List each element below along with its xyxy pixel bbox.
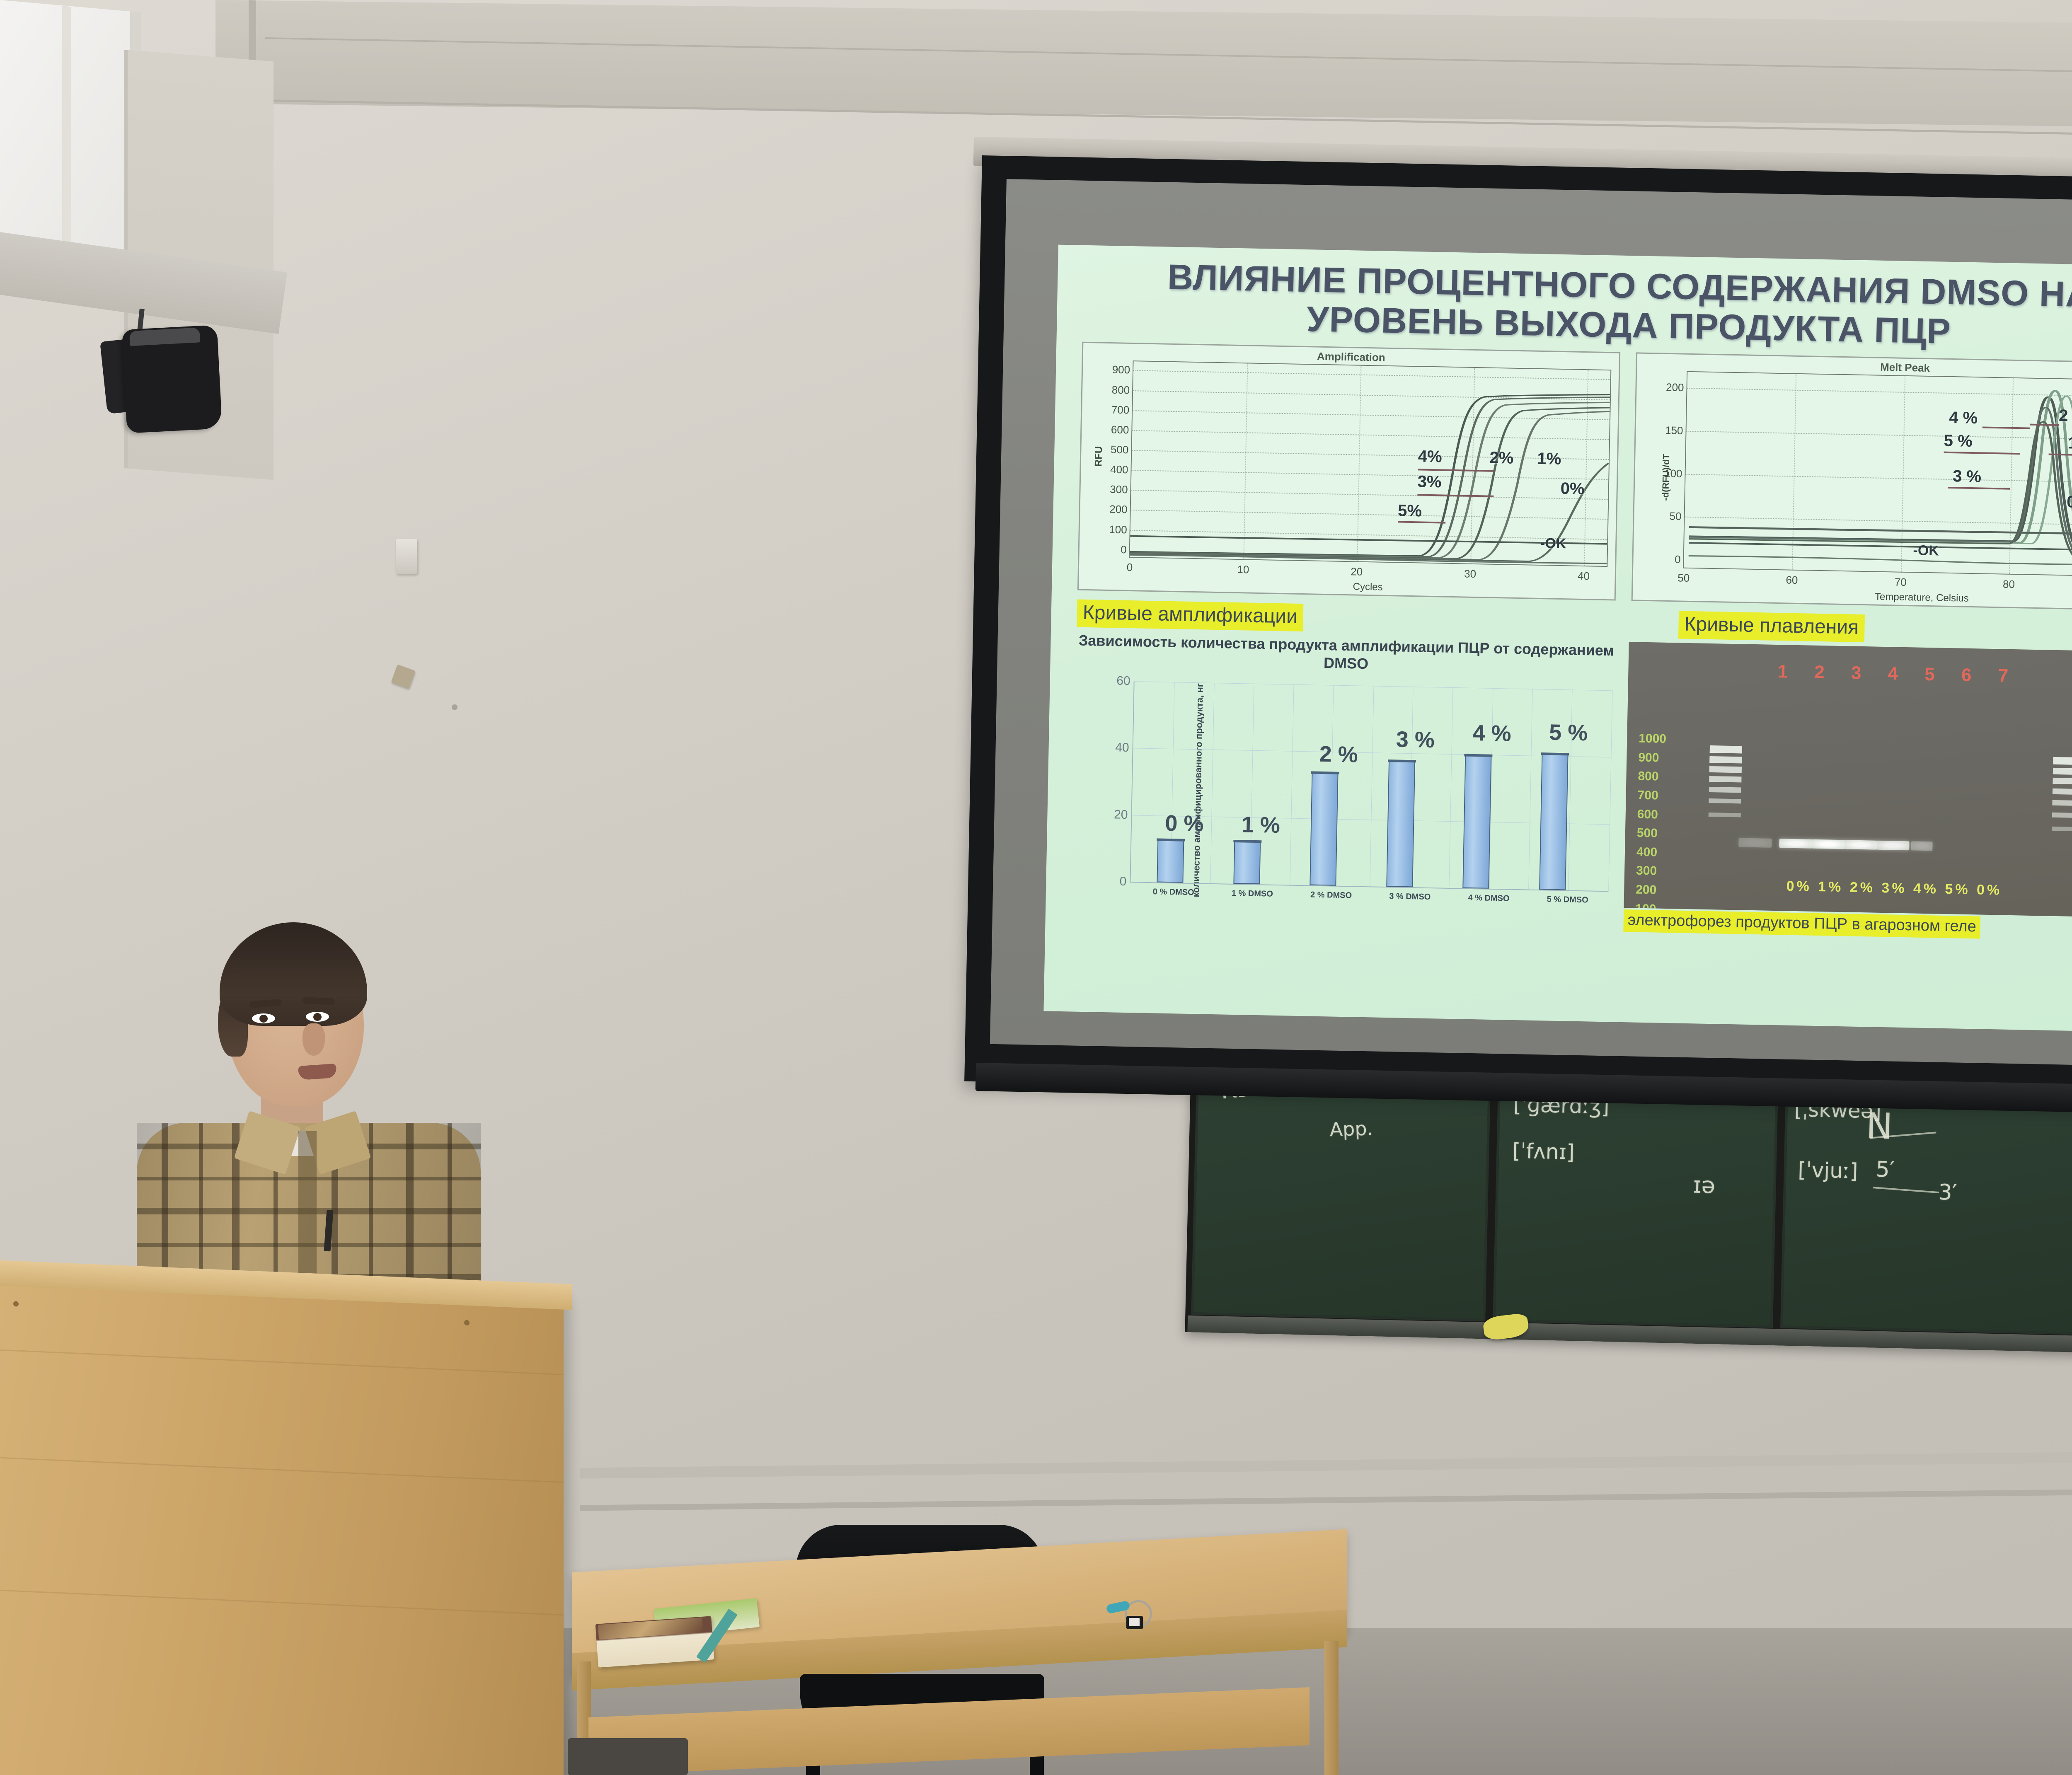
bar-cap	[1233, 840, 1261, 843]
curve-label-3pct: 3 %	[1953, 467, 1982, 486]
x-category-label: 1 % DMSO	[1232, 889, 1273, 899]
ladder-band	[2052, 800, 2072, 806]
top-charts-row: Amplification RFU 900 800 700 600	[1077, 342, 2072, 611]
ladder-bands-right	[2051, 757, 2072, 882]
gel-lane-numbers: 1 2 3 4 5 6 7	[1628, 658, 2072, 689]
y-tick: 600	[1111, 423, 1129, 436]
y-tick: 40	[1115, 741, 1129, 755]
desk-leg	[1324, 1641, 1339, 1775]
x-tick: 10	[1237, 563, 1249, 576]
bar-value-label: 0 %	[1165, 810, 1204, 837]
curve-label-5pct: 5 %	[1944, 432, 1973, 451]
gridline	[1608, 691, 1612, 891]
x-tick: 0	[1126, 561, 1133, 574]
gridline	[1529, 689, 1533, 890]
x-tick: 40	[1578, 570, 1590, 583]
gridline	[1210, 683, 1214, 883]
podium	[0, 1274, 564, 1775]
ladder-band	[1709, 776, 1741, 782]
presenter-eye	[252, 1013, 275, 1023]
key-tag-icon	[1126, 1616, 1143, 1629]
keys-icon	[1106, 1600, 1156, 1626]
y-tick: 20	[1114, 808, 1128, 822]
key-tag-face	[1129, 1618, 1140, 1626]
curve-label-1pct: 1%	[1537, 450, 1561, 469]
projection-surface: ВЛИЯНИЕ ПРОЦЕНТНОГО СОДЕРЖАНИЯ DMSO НА У…	[990, 179, 2072, 1067]
gel-image: 1 2 3 4 5 6 7 1000 900 800 700 600 500 4…	[1624, 642, 2072, 918]
amplification-plot-area: 900 800 700 600 500 400 30	[1129, 360, 1611, 567]
curve-label-0pct: 0 %	[2067, 493, 2072, 512]
bar-value-label: 1 %	[1241, 812, 1280, 838]
gridline	[1290, 684, 1294, 885]
ladder-band	[2053, 768, 2072, 775]
y-tick: 900	[1112, 363, 1130, 377]
presenter-nose	[303, 1023, 325, 1056]
presenter	[137, 899, 481, 1318]
presenter-pupil	[313, 1013, 322, 1021]
x-tick: 70	[1895, 576, 1907, 589]
gridline	[1449, 687, 1453, 888]
chalk-letter-n: Ν	[1866, 1105, 1893, 1147]
x-tick: 20	[1351, 565, 1363, 578]
ladder-band	[1709, 766, 1742, 773]
curve-label-5pct: 5%	[1398, 501, 1422, 520]
bar	[1386, 760, 1415, 888]
x-category-label: 5 % DMSO	[1547, 895, 1588, 905]
y-tick: 50	[1669, 510, 1682, 523]
bar	[1539, 753, 1568, 890]
y-tick: 100	[1664, 467, 1682, 480]
y-tick: 300	[1110, 483, 1128, 496]
ladder-band	[1709, 787, 1741, 793]
amplification-chart: Amplification RFU 900 800 700 600	[1077, 342, 1620, 601]
wall-sensor-icon	[396, 539, 417, 574]
ladder-tick: 700	[1637, 786, 1665, 805]
y-tick: 0	[1121, 543, 1127, 556]
bar	[1310, 771, 1339, 886]
curve-label-ok: -OK	[1913, 543, 1939, 559]
projector-screen: ВЛИЯНИЕ ПРОЦЕНТНОГО СОДЕРЖАНИЯ DMSO НА У…	[964, 155, 2072, 1105]
ladder-band	[1709, 798, 1741, 803]
y-tick: 500	[1111, 443, 1129, 457]
curve-label-2pct: 2%	[1489, 448, 1514, 467]
x-tick: 30	[1464, 568, 1477, 581]
bar-value-label: 3 %	[1396, 726, 1435, 753]
presentation-slide: ВЛИЯНИЕ ПРОЦЕНТНОГО СОДЕРЖАНИЯ DMSO НА У…	[1043, 245, 2072, 1033]
curve-label-4pct: 4 %	[1949, 409, 1978, 428]
y-tick: 200	[1666, 381, 1684, 394]
presenter-eye	[306, 1012, 329, 1022]
y-tick: 60	[1116, 674, 1130, 689]
ladder-band	[2053, 757, 2072, 765]
melt-peak-curves	[1684, 372, 2072, 577]
curve-label-3pct: 3%	[1417, 472, 1442, 491]
caption-gel: электрофорез продуктов ПЦР в агарозном г…	[1623, 909, 1980, 939]
bar-cap	[1388, 759, 1416, 762]
amplification-x-axis-label: Cycles	[1353, 581, 1383, 593]
gel-lane-percent-labels: 0% 1% 2% 3% 4% 5% 0%	[1624, 875, 2072, 902]
podium-grain	[0, 1456, 564, 1483]
y-tick: 100	[1109, 523, 1127, 536]
bar-cap	[1311, 771, 1339, 774]
x-tick: 60	[1786, 574, 1798, 587]
curve-label-1pct: 1 %	[2068, 434, 2072, 453]
bar-value-label: 2 %	[1319, 741, 1358, 768]
gel-band	[1738, 838, 1772, 848]
bar-cap	[1464, 754, 1493, 757]
ladder-tick: 900	[1638, 748, 1666, 767]
gel-band	[1844, 840, 1877, 850]
ladder-tick: 500	[1636, 824, 1665, 843]
ladder-tick: 1000	[1639, 729, 1667, 749]
x-category-label: 0 % DMSO	[1152, 887, 1194, 897]
gel-band	[1876, 841, 1909, 851]
bar	[1157, 839, 1184, 883]
lower-row: Зависимость количества продукта амплифик…	[1071, 631, 2072, 942]
ladder-tick: 800	[1638, 767, 1666, 786]
melt-peak-x-axis-label: Temperature, Celsius	[1875, 591, 1969, 605]
chalk-text: 3′	[1938, 1180, 1957, 1205]
curve-label-2pct: 2 %	[2059, 406, 2072, 426]
curve-label-0pct: 0%	[1560, 479, 1585, 498]
ladder-band	[2052, 813, 2072, 818]
gel-band	[1779, 839, 1812, 849]
bar	[1233, 840, 1261, 884]
y-tick: 0	[1119, 875, 1126, 889]
podium-screw	[464, 1320, 470, 1326]
chalk-arrow	[1873, 1187, 1939, 1193]
bar-cap	[1157, 839, 1185, 842]
x-category-label: 3 % DMSO	[1389, 892, 1431, 902]
wall-mark	[452, 704, 457, 710]
window-mullion	[62, 5, 71, 272]
melt-peak-chart: Melt Peak -d(RFU)/dT 200 150 100 50 0	[1631, 353, 2072, 612]
wall-speaker-icon	[122, 325, 223, 433]
chalk-text: [ˈvjuː]	[1798, 1158, 1858, 1183]
ladder-band	[2053, 778, 2072, 784]
presenter-pupil	[259, 1015, 268, 1023]
y-tick: 150	[1665, 424, 1683, 437]
x-category-label: 2 % DMSO	[1310, 890, 1352, 901]
x-tick: 50	[1677, 572, 1690, 585]
curve-label-4pct: 4%	[1418, 447, 1442, 466]
bar-plot-area: 60 40 20 0	[1130, 681, 1612, 892]
ladder-tick: 600	[1637, 805, 1665, 824]
podium-screw	[13, 1301, 19, 1307]
gridline	[1370, 686, 1374, 887]
amplification-y-axis-label: RFU	[1093, 446, 1105, 467]
ladder-bands-left	[1707, 745, 1742, 870]
curve-label-ok: -OK	[1540, 535, 1566, 552]
presenter-hair	[220, 922, 367, 1026]
y-tick: 400	[1110, 463, 1128, 476]
ladder-band	[2053, 788, 2072, 795]
slide-title: ВЛИЯНИЕ ПРОЦЕНТНОГО СОДЕРЖАНИЯ DMSO НА У…	[1071, 256, 2072, 355]
y-tick: 700	[1111, 403, 1130, 416]
melt-peak-plot-area: 200 150 100 50 0	[1683, 371, 2072, 578]
y-tick: 0	[1675, 553, 1681, 566]
y-tick: 800	[1112, 383, 1130, 397]
chalk-text: [ˈfʌnɪ]	[1512, 1139, 1575, 1164]
ladder-band	[1709, 813, 1741, 817]
podium-grain	[0, 1589, 564, 1615]
book-brown	[595, 1616, 714, 1667]
podium-grain	[0, 1349, 564, 1375]
bar	[1463, 754, 1492, 889]
ladder-tick: 400	[1636, 842, 1665, 862]
bar-chart-title: Зависимость количества продукта амплифик…	[1076, 631, 1616, 677]
gel-band	[1811, 839, 1844, 849]
foreground-chair	[568, 1738, 688, 1775]
caption-melt: Кривые плавления	[1678, 611, 1865, 643]
gel-band	[1911, 842, 1932, 851]
bar-cap	[1541, 752, 1569, 755]
speaker-top-trim	[129, 327, 201, 346]
ladder-band	[2052, 827, 2072, 831]
bar-chart: Зависимость количества продукта амплифик…	[1071, 631, 1617, 932]
ladder-band	[1710, 745, 1742, 753]
chalk-text: App.	[1329, 1117, 1373, 1141]
y-tick: 200	[1109, 503, 1128, 516]
bar-value-label: 5 %	[1549, 719, 1588, 746]
x-tick: 80	[2003, 578, 2015, 591]
chalk-text: ɪə	[1693, 1172, 1716, 1199]
bar-value-label: 4 %	[1472, 720, 1511, 747]
chalk-text: 5′	[1876, 1157, 1895, 1182]
ladder-band	[1709, 756, 1742, 763]
lecture-hall-scene: Kᴅ ~ 10⁻¹⁰ Kᴅ ~ 10⁻⁸ Kᴅ App. [ˈɑːtɪst] "…	[0, 0, 2072, 1775]
gel-electrophoresis-panel: 1 2 3 4 5 6 7 1000 900 800 700 600 500 4…	[1623, 642, 2072, 942]
caption-amplification: Кривые амплификации	[1077, 600, 1303, 631]
x-category-label: 4 % DMSO	[1468, 893, 1509, 904]
caption-cell-left: Кривые амплификации	[1077, 600, 1568, 637]
